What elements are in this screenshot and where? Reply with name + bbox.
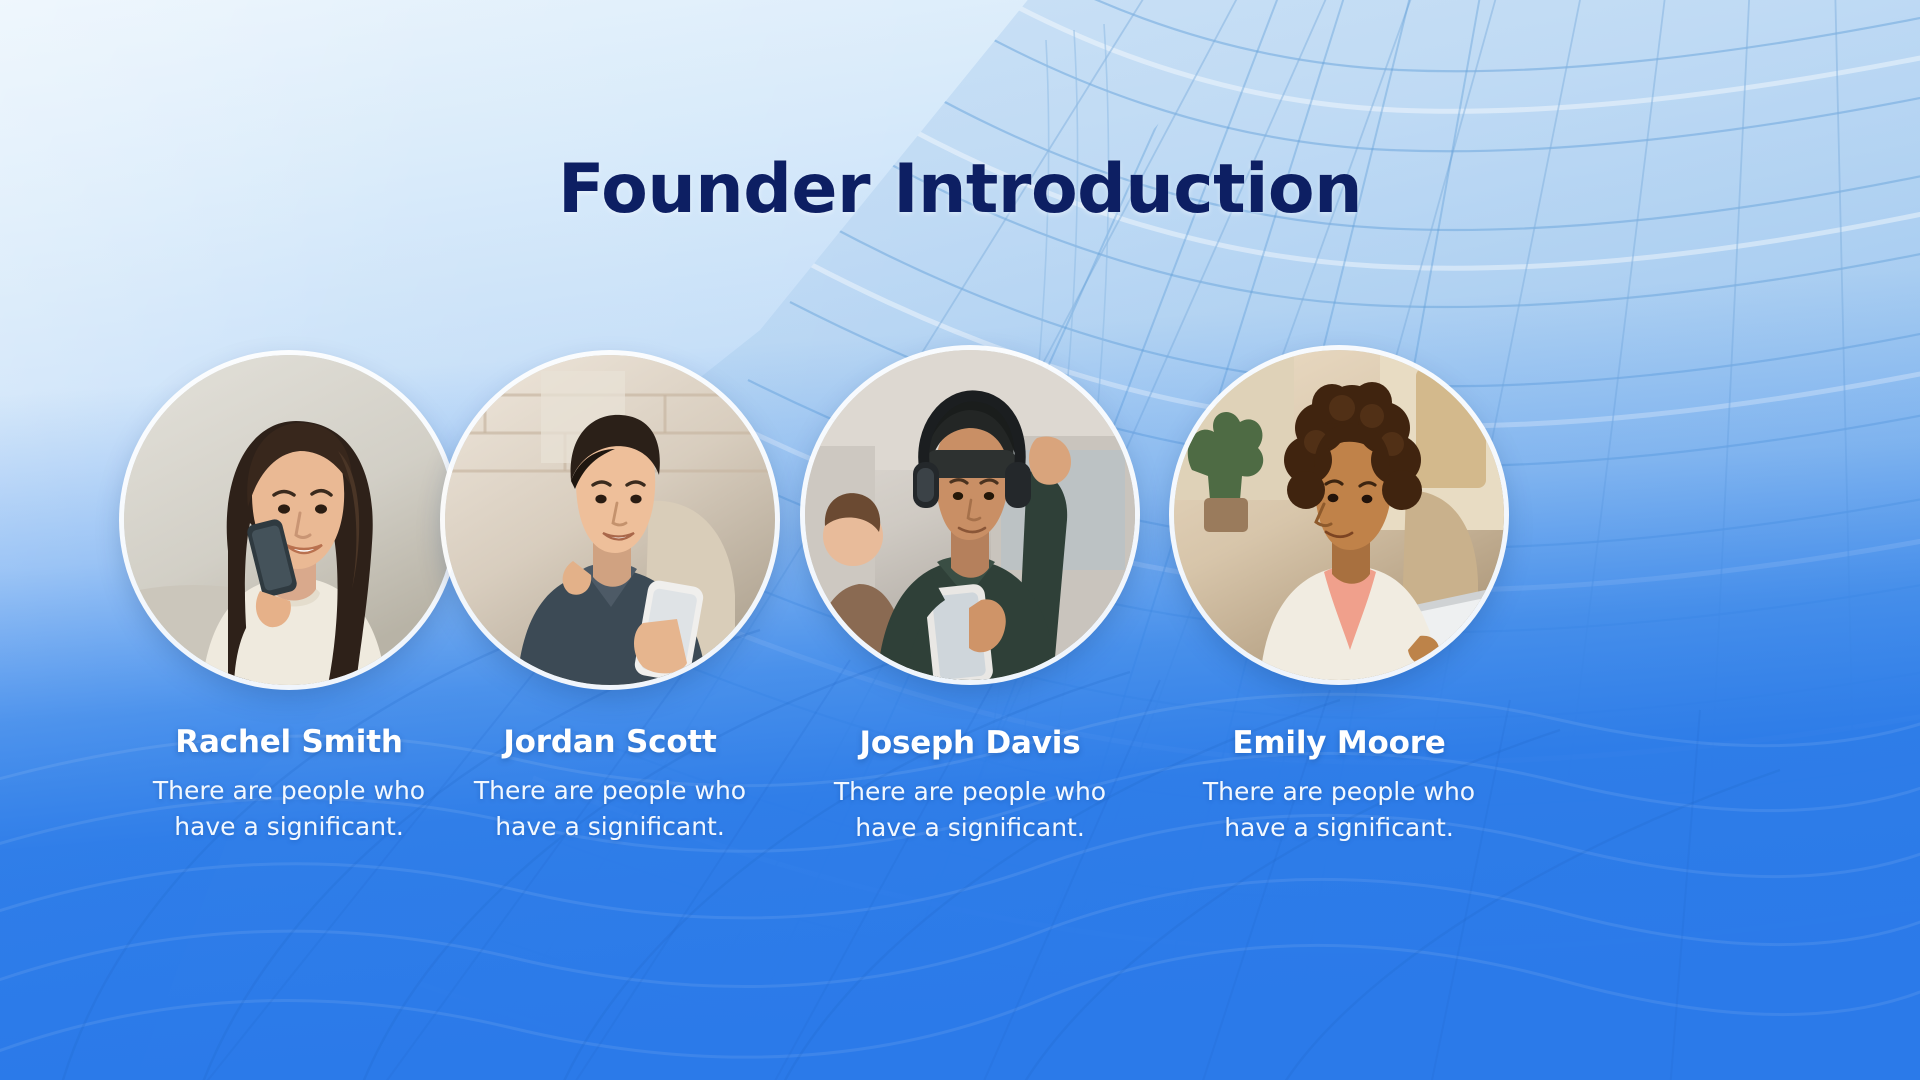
slide-canvas: Founder Introduction	[0, 0, 1920, 1080]
founder-description: There are people who have a significant.	[805, 774, 1135, 845]
founder-description-line-1: There are people who	[805, 774, 1135, 810]
avatar-jordan-scott[interactable]	[445, 355, 775, 685]
founder-description-line-1: There are people who	[445, 773, 775, 809]
founder-card-joseph-davis[interactable]: Joseph Davis There are people who have a…	[805, 350, 1135, 845]
founder-description-line-1: There are people who	[1174, 774, 1504, 810]
avatar-joseph-davis[interactable]	[805, 350, 1135, 680]
founder-description-line-2: have a significant.	[805, 810, 1135, 846]
founder-card-rachel-smith[interactable]: Rachel Smith There are people who have a…	[124, 355, 454, 844]
portrait-woman-on-phone-icon	[124, 355, 454, 685]
avatar-emily-moore[interactable]	[1174, 350, 1504, 680]
founder-name: Rachel Smith	[124, 725, 454, 759]
portrait-woman-curly-hair-at-desk-icon	[1174, 350, 1504, 680]
founder-description: There are people who have a significant.	[445, 773, 775, 844]
founder-name: Joseph Davis	[805, 726, 1135, 760]
founder-description: There are people who have a significant.	[124, 773, 454, 844]
portrait-man-with-beanie-headphones-icon	[805, 350, 1135, 680]
portrait-man-with-smartphone-icon	[445, 355, 775, 685]
founder-name: Emily Moore	[1174, 726, 1504, 760]
founder-description-line-2: have a significant.	[124, 809, 454, 845]
founder-description: There are people who have a significant.	[1174, 774, 1504, 845]
founder-card-emily-moore[interactable]: Emily Moore There are people who have a …	[1174, 350, 1504, 845]
founder-description-line-2: have a significant.	[1174, 810, 1504, 846]
avatar-rachel-smith[interactable]	[124, 355, 454, 685]
page-title: Founder Introduction	[0, 150, 1920, 229]
founder-card-jordan-scott[interactable]: Jordan Scott There are people who have a…	[445, 355, 775, 844]
founder-description-line-2: have a significant.	[445, 809, 775, 845]
founder-name: Jordan Scott	[445, 725, 775, 759]
founder-description-line-1: There are people who	[124, 773, 454, 809]
